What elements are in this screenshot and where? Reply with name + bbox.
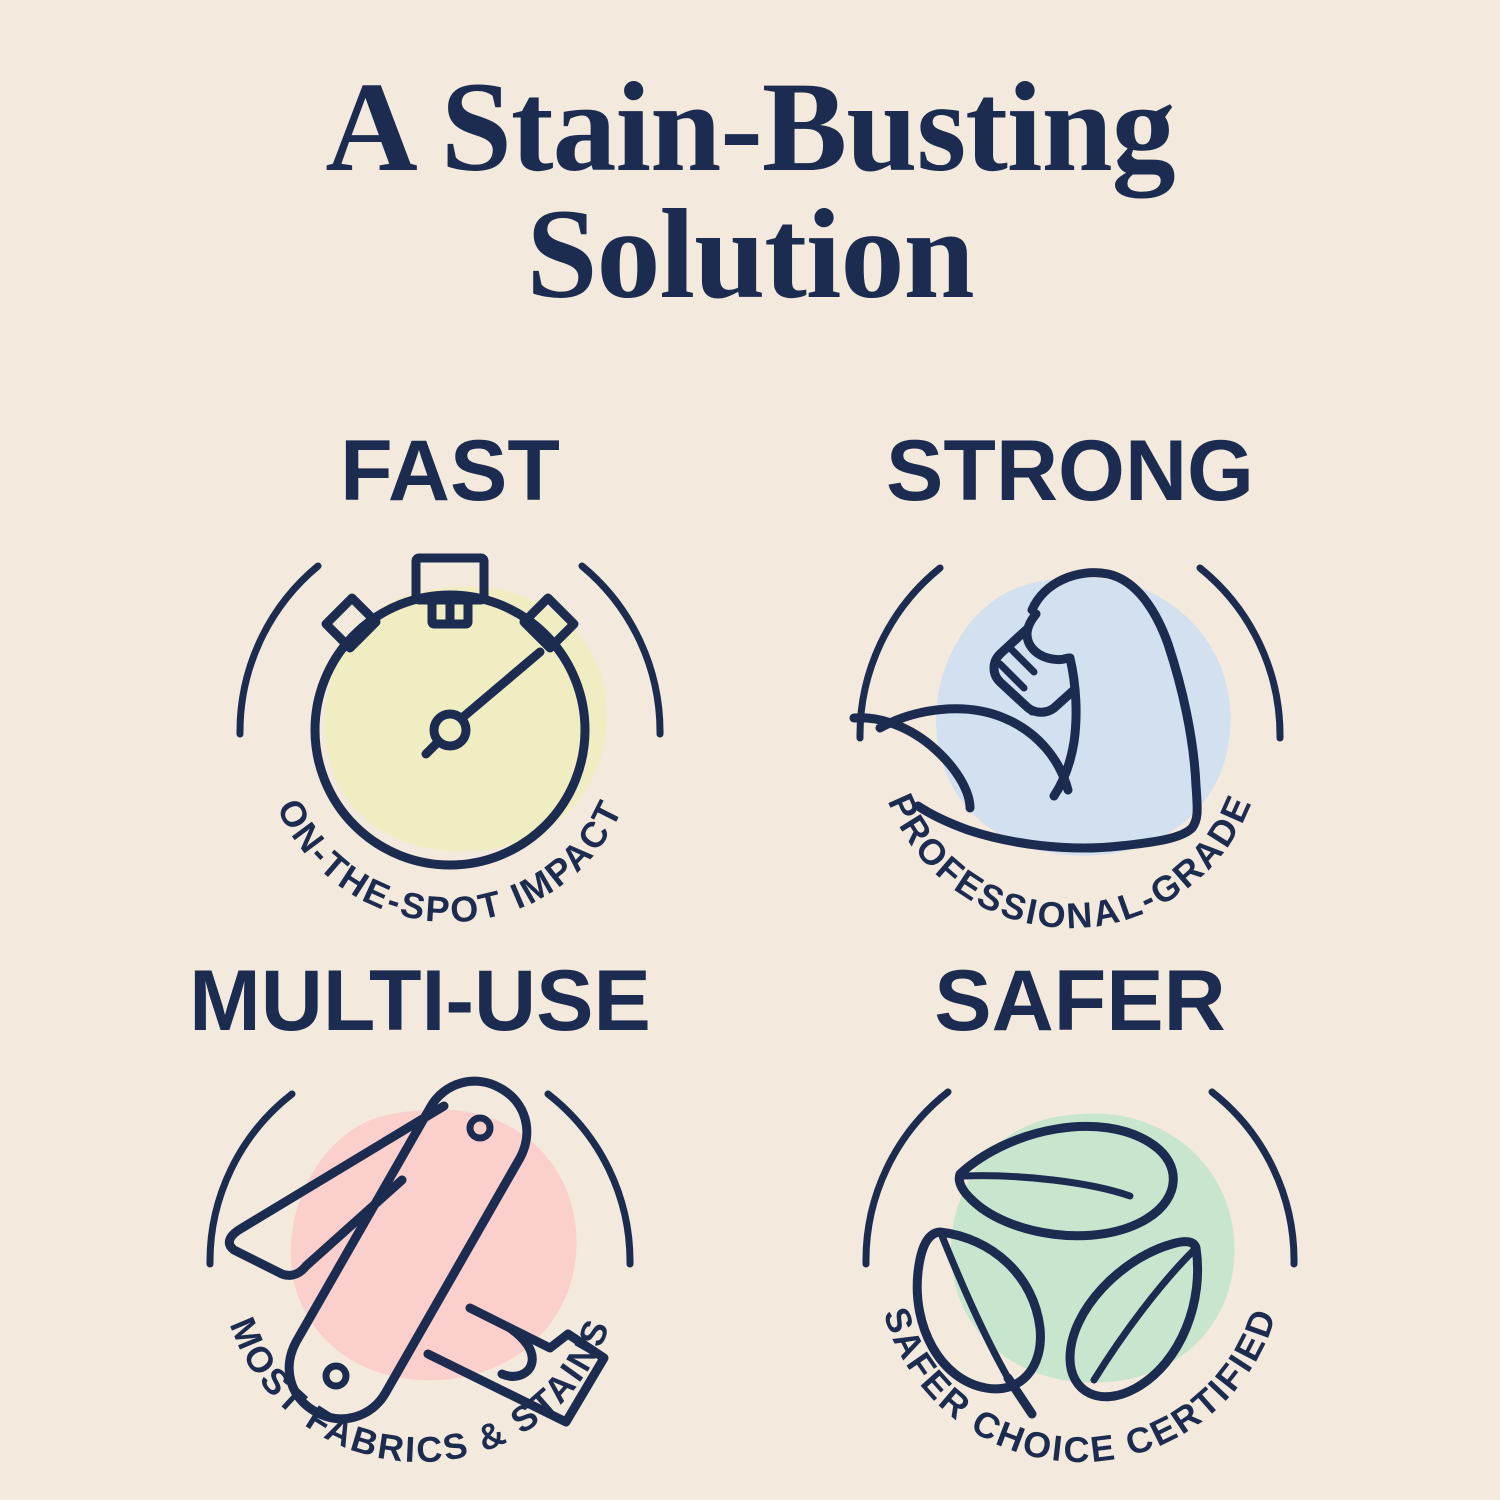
page-title: A Stain-Busting Solution [0, 62, 1500, 319]
badge-strong: STRONG [760, 410, 1380, 940]
badge-strong-art: PROFESSIONAL-GRADE [820, 502, 1320, 942]
page-title-line-2: Solution [0, 189, 1500, 320]
infographic-page: A Stain-Busting Solution FAST [0, 0, 1500, 1500]
badge-grid: FAST [0, 410, 1500, 1470]
badge-multi-use-art: MOST FABRICS & STAINS [170, 1032, 670, 1472]
badge-safer-art: SAFER CHOICE CERTIFIED [830, 1032, 1330, 1472]
badge-multi-use: MULTI-USE [110, 940, 730, 1470]
badge-safer: SAFER [770, 940, 1390, 1470]
page-title-line-1: A Stain-Busting [0, 62, 1500, 193]
badge-fast-art: ON-THE-SPOT IMPACT [200, 502, 700, 942]
badge-fast: FAST [140, 410, 760, 940]
